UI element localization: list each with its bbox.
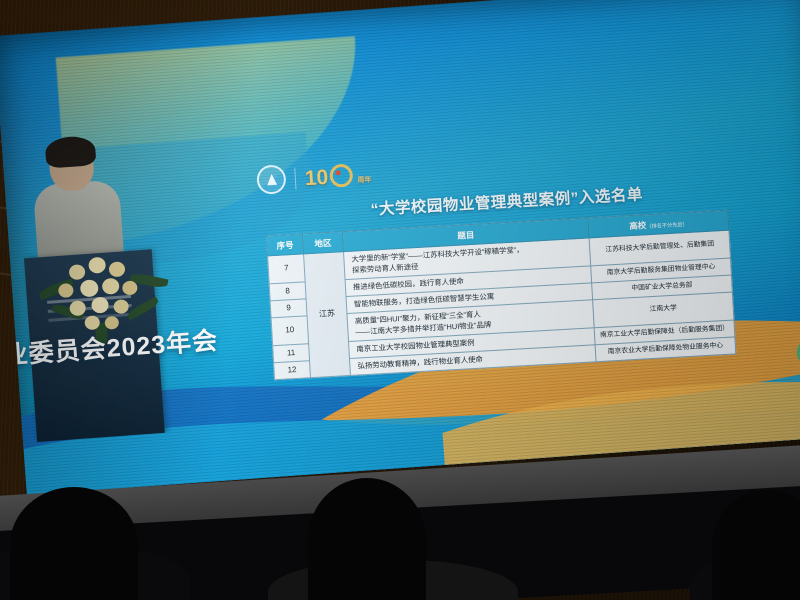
audience-head-center xyxy=(308,478,426,600)
led-stage-screen: 业委员会2023年会 10 周年 “大学校园物业管理典型案例”入选名单 xyxy=(0,0,800,495)
conference-hall-scene: 业委员会2023年会 10 周年 “大学校园物业管理典型案例”入选名单 xyxy=(0,0,800,600)
audience-head-left xyxy=(10,487,138,600)
screen-lighting-overlay xyxy=(0,0,800,495)
